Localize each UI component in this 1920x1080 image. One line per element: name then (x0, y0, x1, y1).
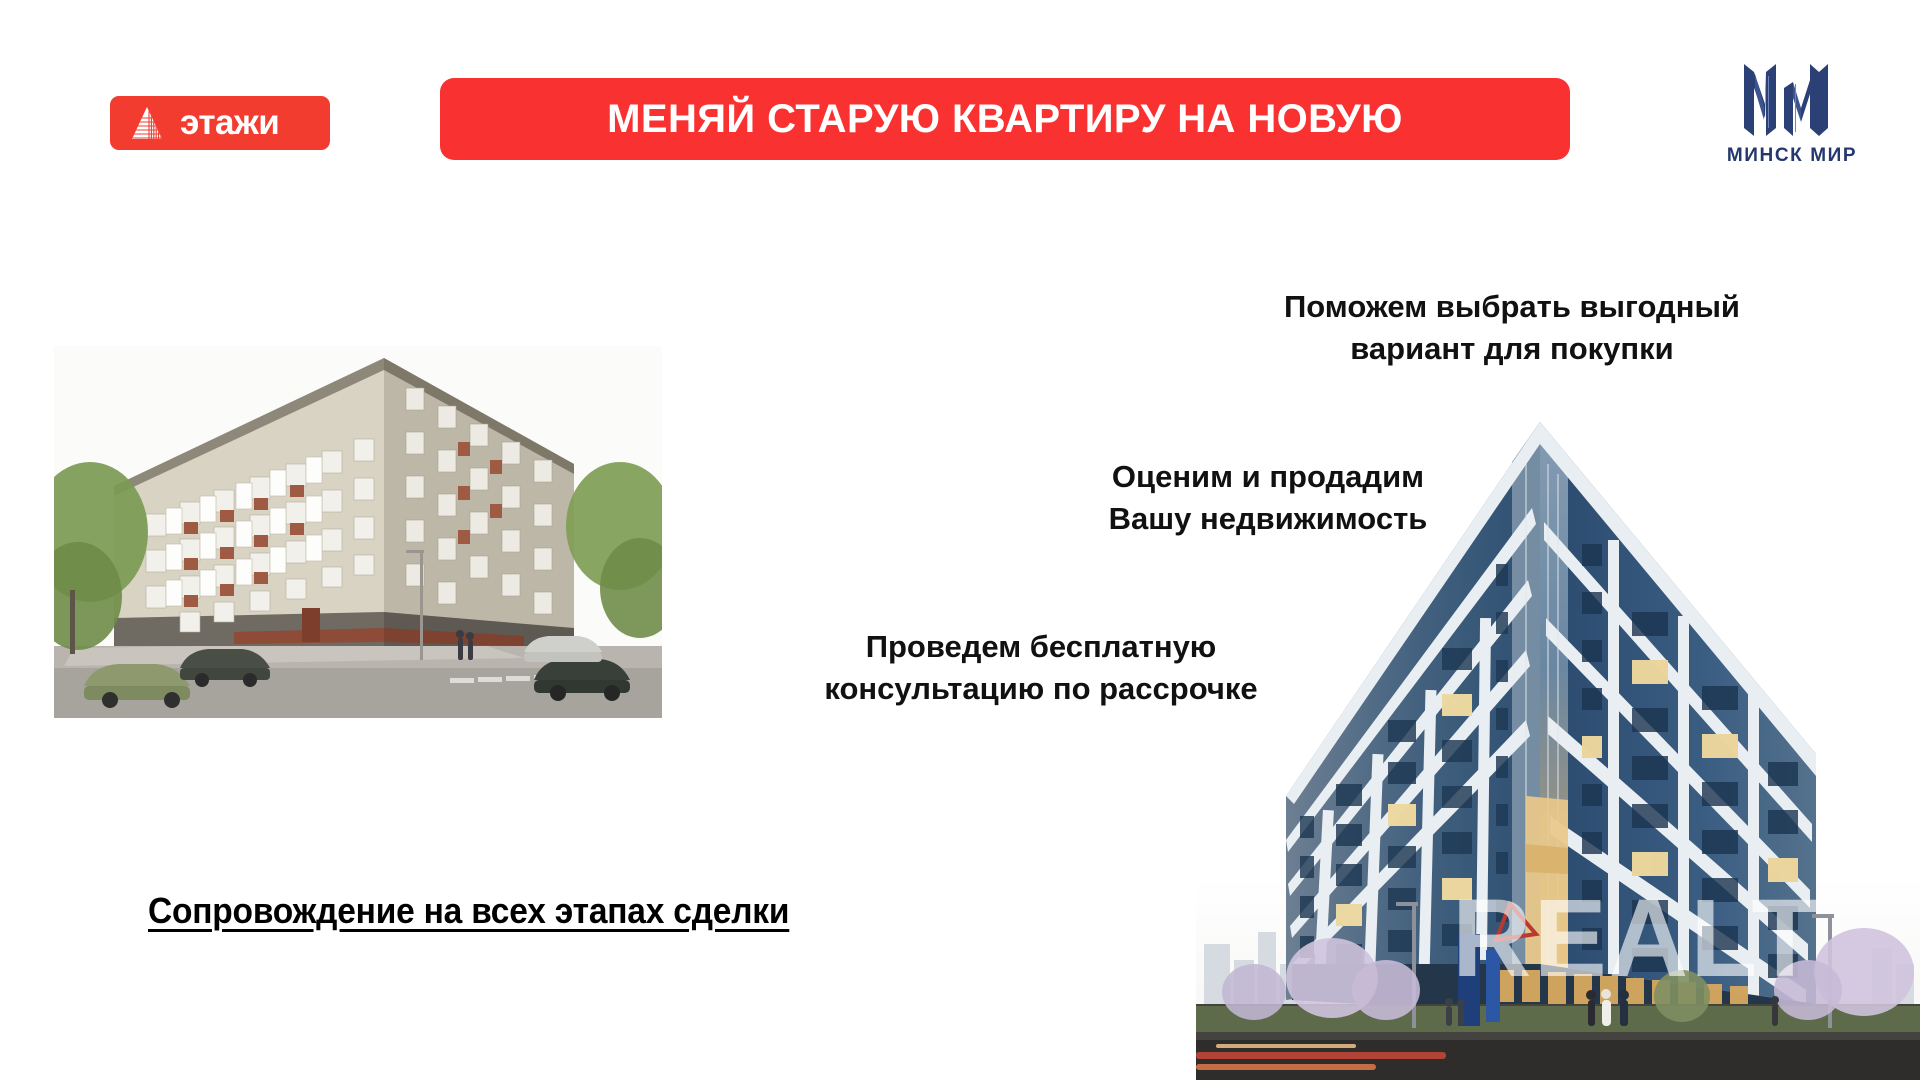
benefit-text-support: Сопровождение на всех этапах сделки (148, 890, 789, 932)
minsk-mir-logo-text: МИНСК МИР (1727, 146, 1857, 165)
headline-banner: МЕНЯЙ СТАРУЮ КВАРТИРУ НА НОВУЮ (440, 78, 1570, 160)
benefit-text-buy: Поможем выбрать выгодный вариант для пок… (1232, 286, 1792, 369)
headline-text: МЕНЯЙ СТАРУЮ КВАРТИРУ НА НОВУЮ (607, 97, 1403, 142)
building-stripes-icon (128, 105, 166, 141)
benefit-text-consultation: Проведем бесплатную консультацию по расс… (770, 626, 1312, 709)
benefit-text-sell: Оценим и продадим Вашу недвижимость (1048, 456, 1488, 539)
etazhi-logo-text: этажи (180, 105, 279, 140)
etazhi-logo[interactable]: этажи (110, 96, 330, 150)
slide-root: этажи МЕНЯЙ СТАРУЮ КВАРТИРУ НА НОВУЮ (0, 0, 1920, 1080)
old-building-photo (54, 346, 662, 718)
mw-monogram-icon (1738, 58, 1846, 142)
minsk-mir-logo[interactable]: МИНСК МИР (1722, 58, 1862, 174)
